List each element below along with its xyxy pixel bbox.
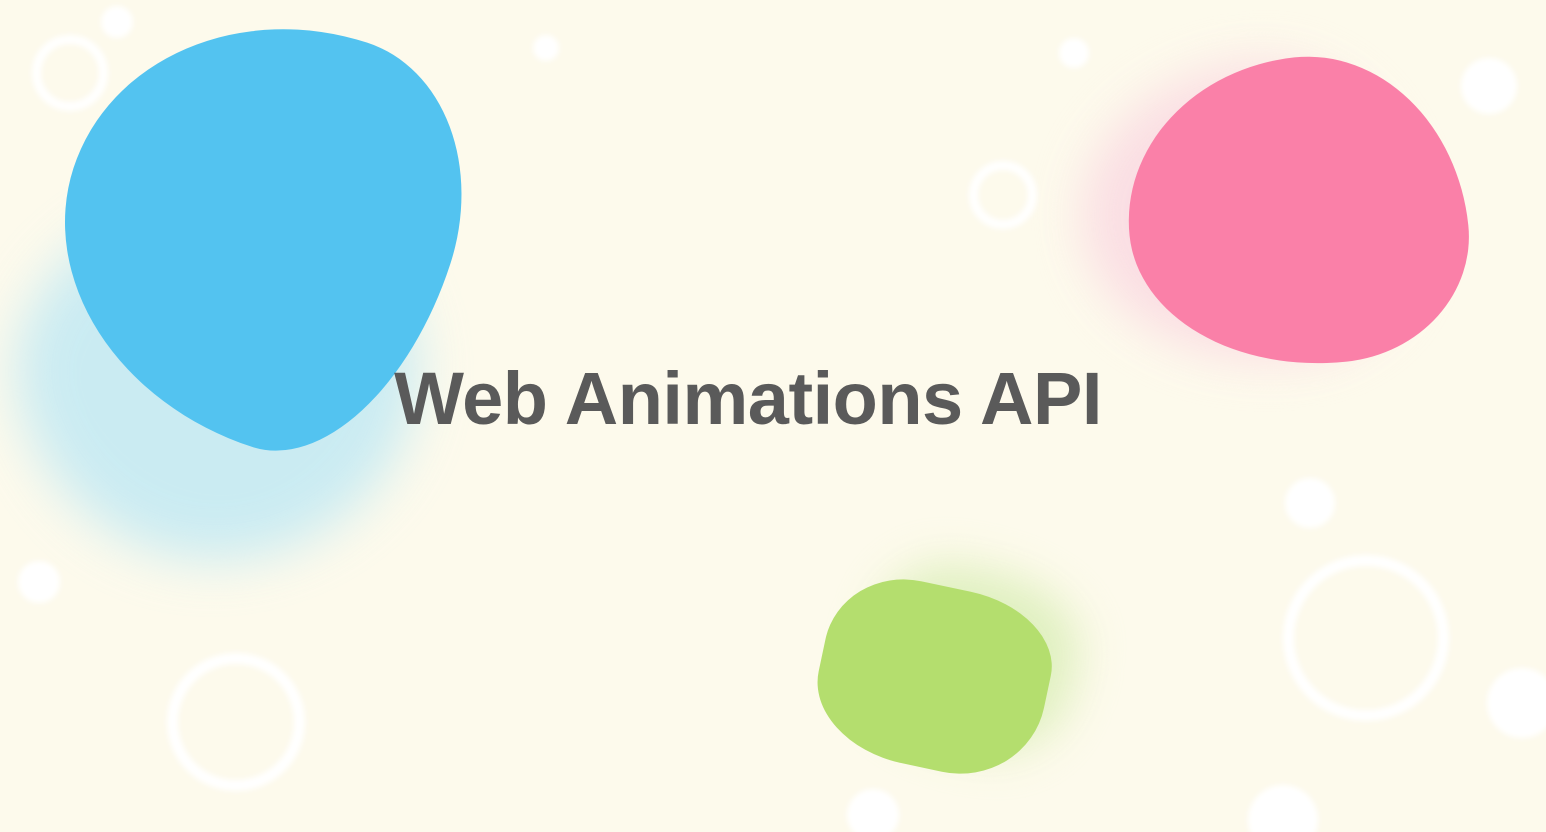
- title-layer: Web Animations API: [0, 0, 1546, 832]
- blue-blob: [9, 0, 508, 488]
- decor-dot-mid-right: [1285, 478, 1335, 528]
- decor-dot-bottom-center: [847, 789, 899, 832]
- hero-banner-canvas: Web Animations API: [0, 0, 1546, 832]
- decor-ring-bottom-left: [167, 653, 305, 791]
- decor-dot-bottom-left: [18, 561, 60, 603]
- decor-dot-top-center-right: [1059, 38, 1089, 68]
- decor-dot-top-center-left: [533, 35, 559, 61]
- decorative-circle-layer: [0, 0, 1546, 832]
- blob-layer: [0, 0, 1546, 832]
- green-blob-ghost: [852, 548, 1095, 771]
- decor-dot-top-right: [1461, 58, 1517, 114]
- decor-dot-top-left-small: [101, 6, 133, 38]
- pink-blob-ghost: [1063, 42, 1432, 385]
- decor-ring-center-right: [969, 161, 1037, 229]
- decor-dot-bottom-right: [1248, 785, 1318, 832]
- pink-blob: [1113, 41, 1481, 383]
- green-blob: [804, 564, 1065, 789]
- page-title: Web Animations API: [0, 362, 1521, 436]
- blue-blob-ghost: [0, 152, 452, 597]
- decor-ring-bottom-right: [1283, 555, 1449, 721]
- decor-ring-top-left: [32, 35, 108, 111]
- decor-dot-far-right: [1487, 668, 1546, 738]
